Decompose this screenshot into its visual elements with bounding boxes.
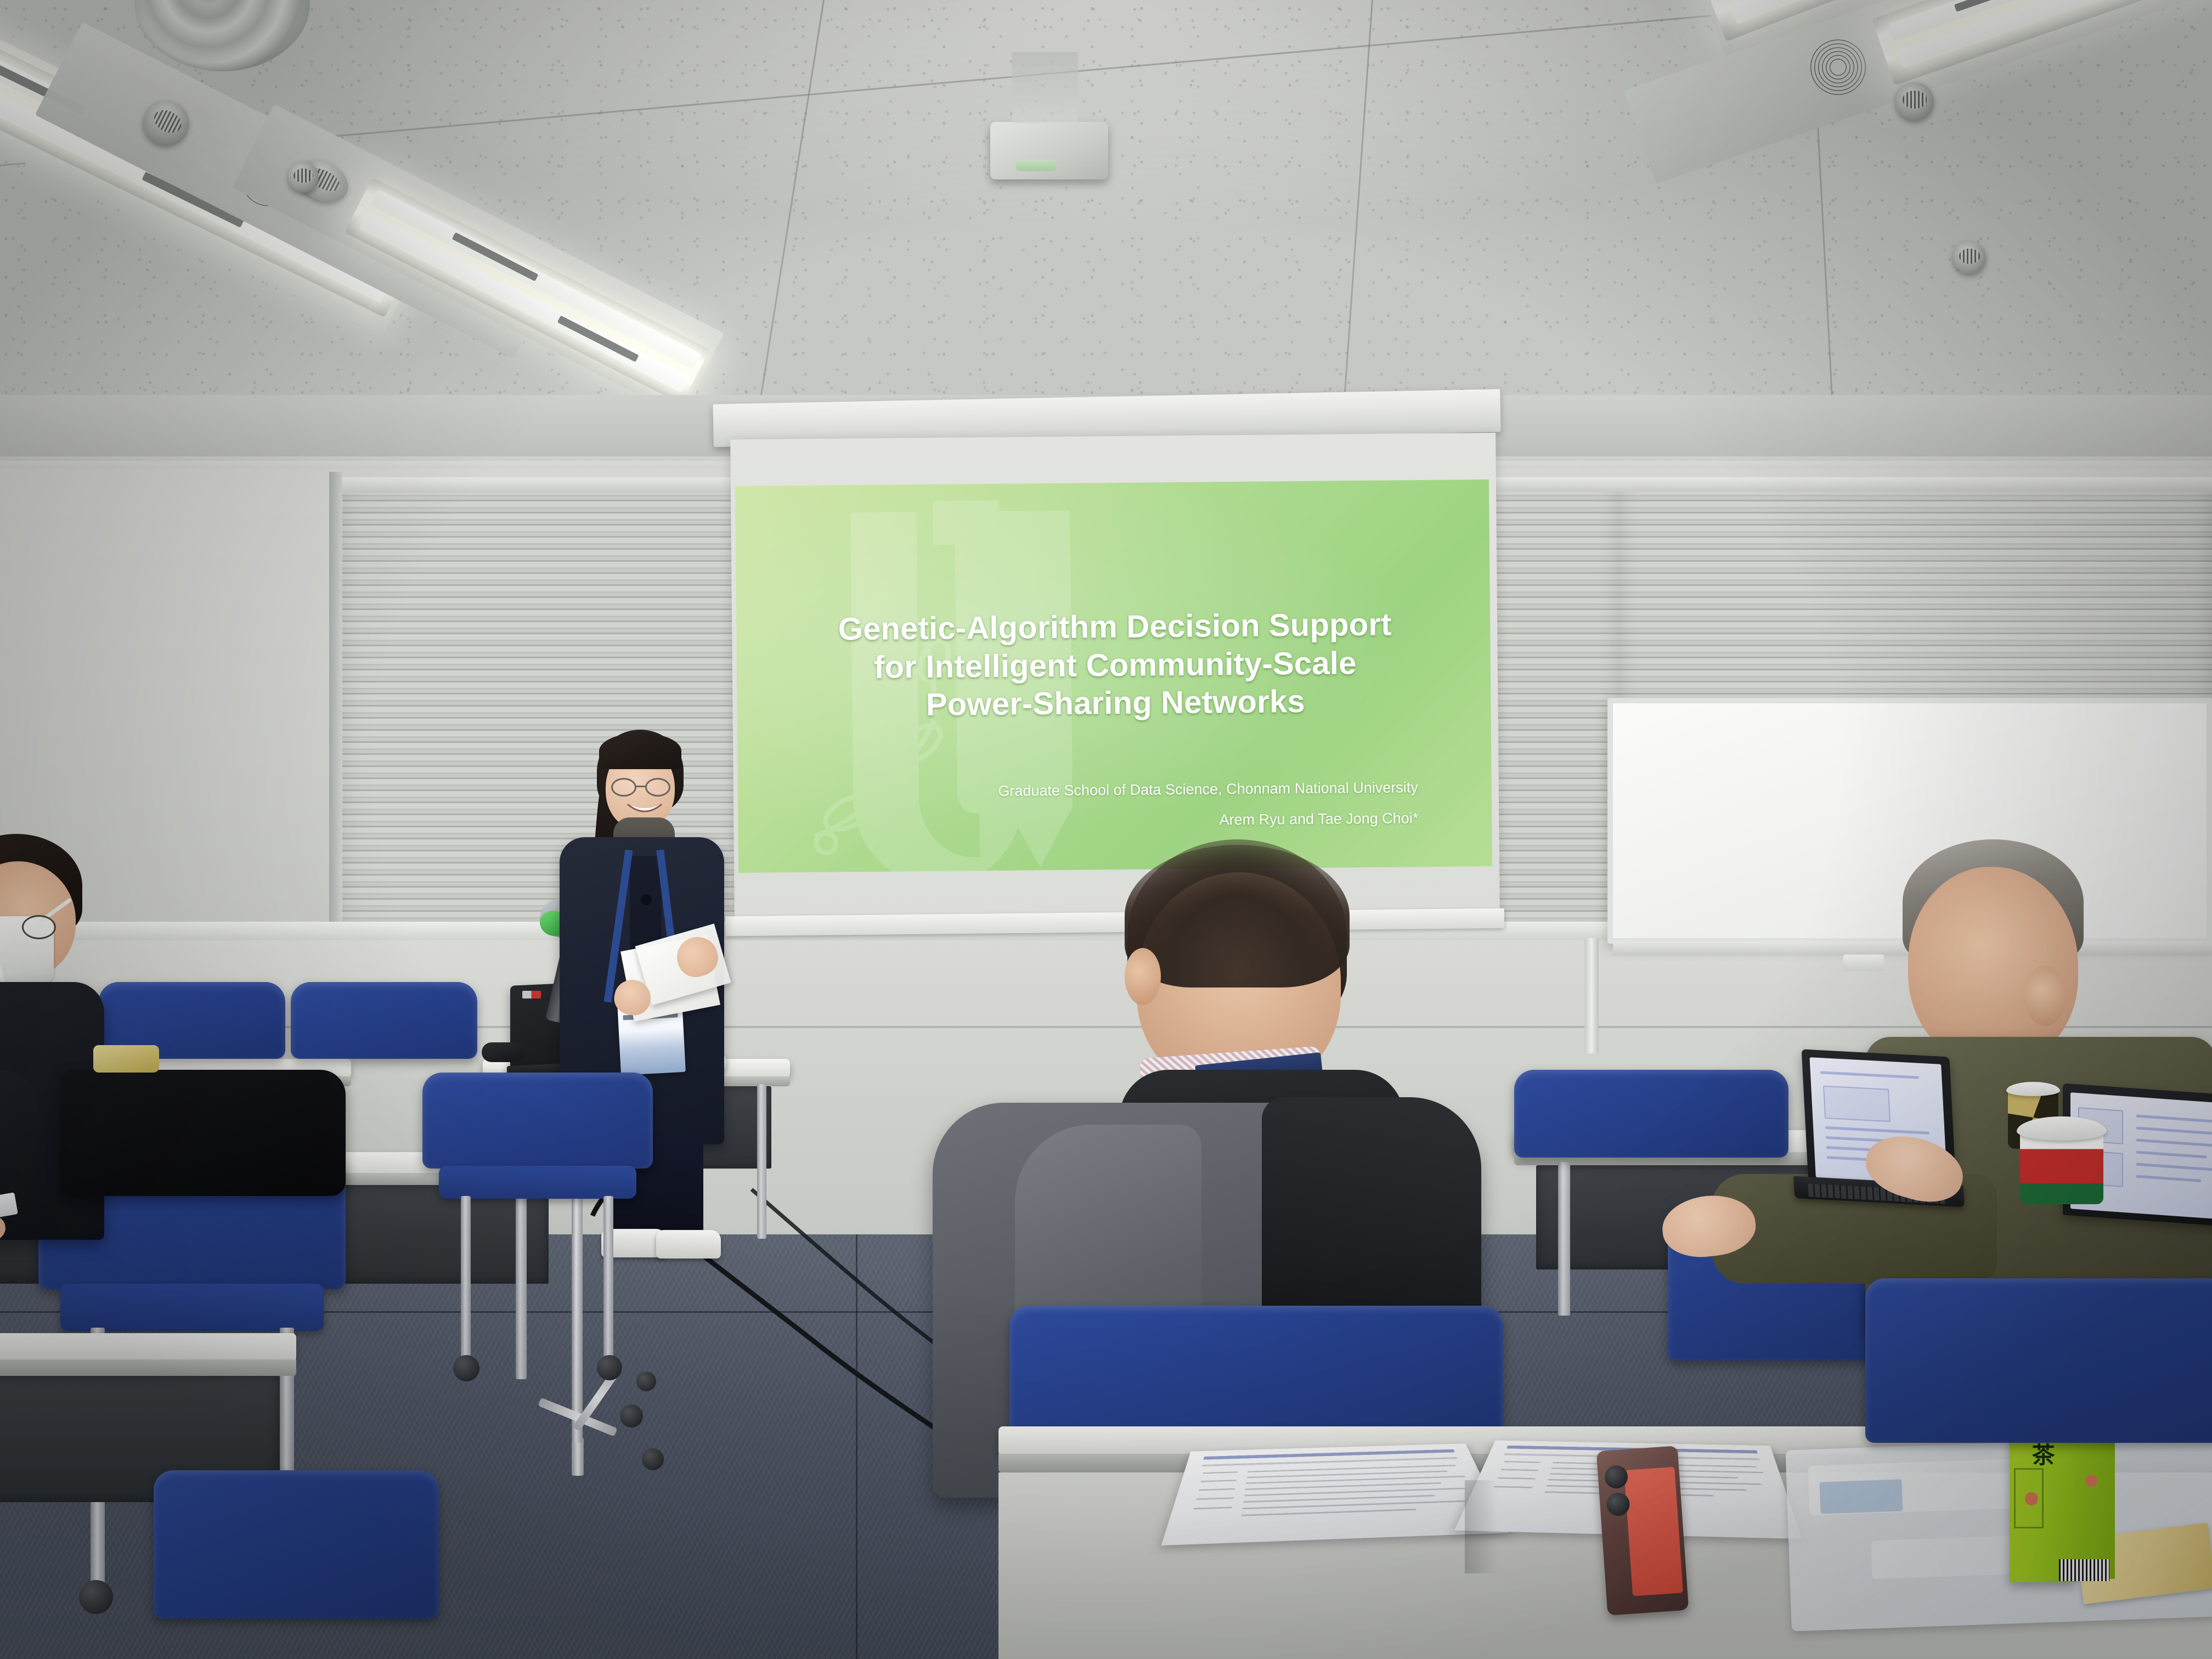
- smoke-detector-icon: [1895, 82, 1934, 121]
- cup-holiday[interactable]: [2020, 1116, 2103, 1204]
- chair-right-back[interactable]: [1514, 1070, 1788, 1180]
- smartphone[interactable]: [1596, 1446, 1689, 1616]
- chair-foreground-right[interactable]: [1865, 1278, 2212, 1659]
- slide-title: Genetic-Algorithm Decision Support for I…: [813, 605, 1418, 725]
- cardigan-button: [641, 894, 652, 905]
- presenter-shoe-right: [656, 1230, 721, 1259]
- slide-content: Genetic-Algorithm Decision Support for I…: [735, 479, 1492, 873]
- seminar-room-photo: Genetic-Algorithm Decision Support for I…: [0, 0, 2212, 1659]
- smoke-detector-icon: [1953, 241, 1986, 274]
- glasses-right-lens: [645, 778, 670, 797]
- jacket-shoulder: [1262, 1097, 1481, 1328]
- slide-title-line-1: Genetic-Algorithm Decision Support: [813, 605, 1417, 648]
- attendee-arm: [0, 1070, 38, 1212]
- chair-foreground-left[interactable]: [154, 1470, 439, 1659]
- mic-stand-caster: [642, 1448, 664, 1470]
- booklet-spine: [1465, 1480, 1498, 1573]
- smoke-detector-icon: [288, 162, 319, 193]
- presenter-leg: [656, 1130, 703, 1240]
- projector-mount: [1012, 52, 1078, 123]
- ceiling-speaker-icon: [1801, 30, 1875, 104]
- slide-title-line-2: for Intelligent Community-Scale: [814, 644, 1418, 687]
- presenter-hair-front: [599, 733, 681, 769]
- attendee-ear: [1125, 948, 1161, 1005]
- window-frame: [329, 472, 342, 944]
- glasses-left-lens: [611, 778, 636, 797]
- program-booklet[interactable]: [1180, 1398, 1799, 1579]
- attendee-head: [1908, 867, 2078, 1064]
- ceiling-projector: [990, 122, 1108, 179]
- presenter-smile: [625, 800, 664, 820]
- mic-stand-caster: [620, 1404, 643, 1427]
- glasses-bridge: [635, 786, 646, 787]
- slide-title-line-3: Power-Sharing Networks: [814, 681, 1418, 725]
- jacket-on-chair: [60, 1070, 346, 1196]
- attendee-glasses: [22, 915, 56, 939]
- smoke-detector-icon: [137, 93, 197, 154]
- mic-stand-base: [572, 1437, 584, 1476]
- attendee-ear: [2024, 966, 2066, 1026]
- desk-item-pouch: [93, 1045, 159, 1073]
- chair-center-left[interactable]: [422, 1073, 653, 1380]
- computer-mouse[interactable]: [482, 1042, 524, 1062]
